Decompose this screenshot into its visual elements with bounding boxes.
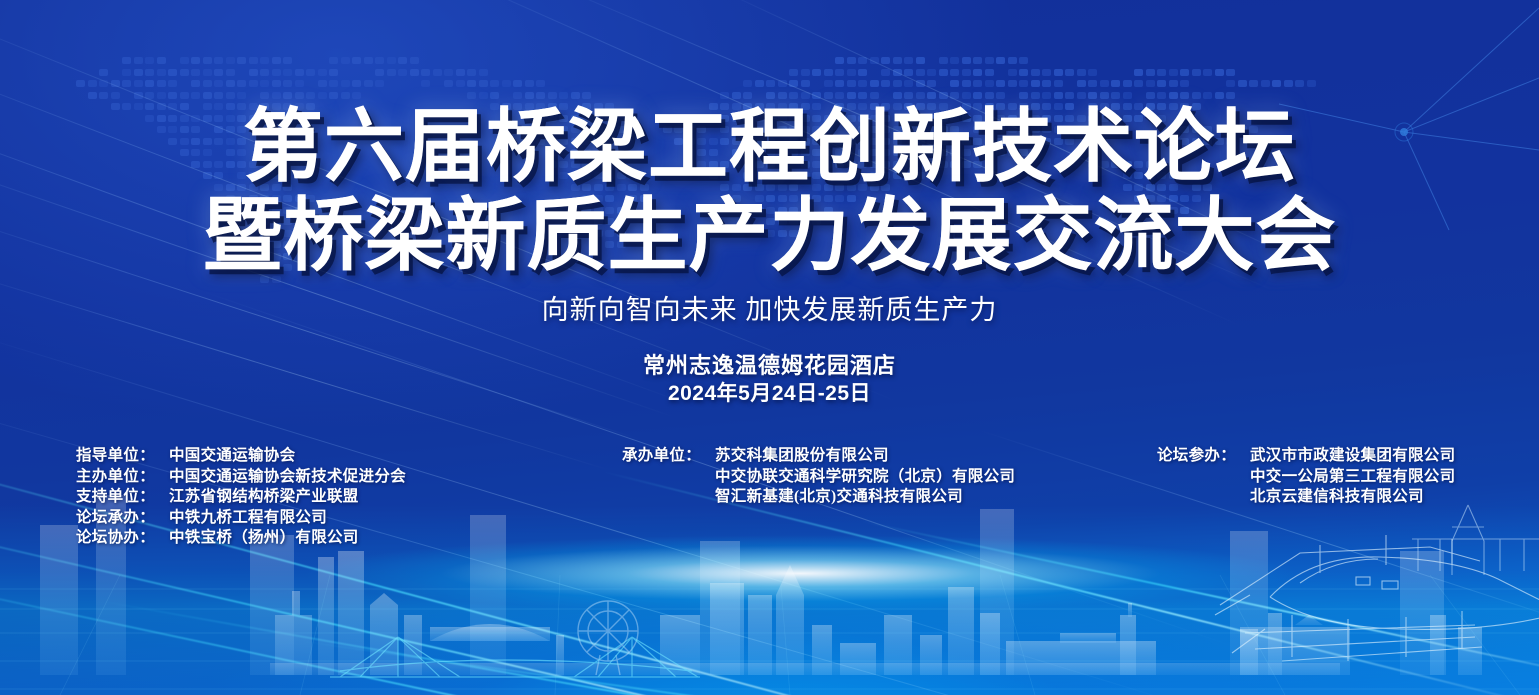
credit-left-label: 主办单位： — [76, 467, 169, 488]
pagoda-icon — [1240, 615, 1350, 675]
event-venue-block: 常州志逸温德姆花园酒店 2024年5月24日-25日 — [0, 352, 1539, 407]
credit-middle-value: 智汇新基建(北京)交通科技有限公司 — [715, 488, 963, 505]
venue-name: 常州志逸温德姆花园酒店 — [0, 352, 1539, 380]
credit-right-line: 中交一公局第三工程有限公司 — [1157, 467, 1455, 488]
credit-left-line: 主办单位：中国交通运输协会新技术促进分会 — [76, 467, 406, 488]
event-date: 2024年5月24日-25日 — [0, 380, 1539, 407]
bridge-icon — [330, 637, 700, 677]
credit-left-label: 指导单位： — [76, 446, 169, 467]
grid-floor-decoration — [0, 575, 1539, 695]
credit-left-line: 论坛协办：中铁宝桥（扬州）有限公司 — [76, 528, 406, 549]
title-line-2: 暨桥梁新质生产力发展交流大会 — [0, 197, 1539, 277]
credit-left-label: 论坛承办： — [76, 508, 169, 529]
ferris-wheel-icon — [578, 601, 638, 675]
credit-left-line: 论坛承办：中铁九桥工程有限公司 — [76, 508, 406, 529]
credit-middle-label: 承办单位： — [622, 446, 715, 467]
credit-left-value: 中国交通运输协会新技术促进分会 — [169, 468, 406, 485]
credits-column-middle: 承办单位：苏交科集团股份有限公司中交协联交通科学研究院（北京）有限公司智汇新基建… — [622, 446, 1015, 508]
credit-right-value: 武汉市市政建设集团有限公司 — [1250, 447, 1455, 464]
event-title: 第六届桥梁工程创新技术论坛 暨桥梁新质生产力发展交流大会 — [0, 108, 1539, 277]
credit-middle-line: 智汇新基建(北京)交通科技有限公司 — [622, 487, 1015, 508]
credit-left-label: 论坛协办： — [76, 528, 169, 549]
credit-left-value: 江苏省钢结构桥梁产业联盟 — [169, 488, 359, 505]
credit-left-value: 中铁宝桥（扬州）有限公司 — [169, 529, 359, 546]
title-line-1: 第六届桥梁工程创新技术论坛 — [0, 108, 1539, 188]
credit-right-value: 中交一公局第三工程有限公司 — [1250, 468, 1455, 485]
credit-left-line: 指导单位：中国交通运输协会 — [76, 446, 406, 467]
credit-right-label: 论坛参办： — [1157, 446, 1250, 467]
credit-middle-line: 承办单位：苏交科集团股份有限公司 — [622, 446, 1015, 467]
credit-middle-value: 苏交科集团股份有限公司 — [715, 447, 889, 464]
conference-banner: 第六届桥梁工程创新技术论坛 暨桥梁新质生产力发展交流大会 向新向智向未来 加快发… — [0, 0, 1539, 695]
credits-column-left: 指导单位：中国交通运输协会主办单位：中国交通运输协会新技术促进分会支持单位：江苏… — [76, 446, 406, 549]
credit-middle-value: 中交协联交通科学研究院（北京）有限公司 — [715, 468, 1015, 485]
credit-left-value: 中国交通运输协会 — [169, 447, 295, 464]
credit-middle-line: 中交协联交通科学研究院（北京）有限公司 — [622, 467, 1015, 488]
credit-right-line: 论坛参办：武汉市市政建设集团有限公司 — [1157, 446, 1455, 467]
credit-left-line: 支持单位：江苏省钢结构桥梁产业联盟 — [76, 487, 406, 508]
credit-right-line: 北京云建信科技有限公司 — [1157, 487, 1455, 508]
event-slogan: 向新向智向未来 加快发展新质生产力 — [0, 293, 1539, 327]
credits-column-right: 论坛参办：武汉市市政建设集团有限公司中交一公局第三工程有限公司北京云建信科技有限… — [1157, 446, 1455, 508]
credit-left-label: 支持单位： — [76, 487, 169, 508]
credit-left-value: 中铁九桥工程有限公司 — [169, 509, 327, 526]
bridge-tower-icon — [1412, 505, 1539, 575]
high-speed-train-icon — [1215, 535, 1539, 661]
credit-right-value: 北京云建信科技有限公司 — [1250, 488, 1424, 505]
